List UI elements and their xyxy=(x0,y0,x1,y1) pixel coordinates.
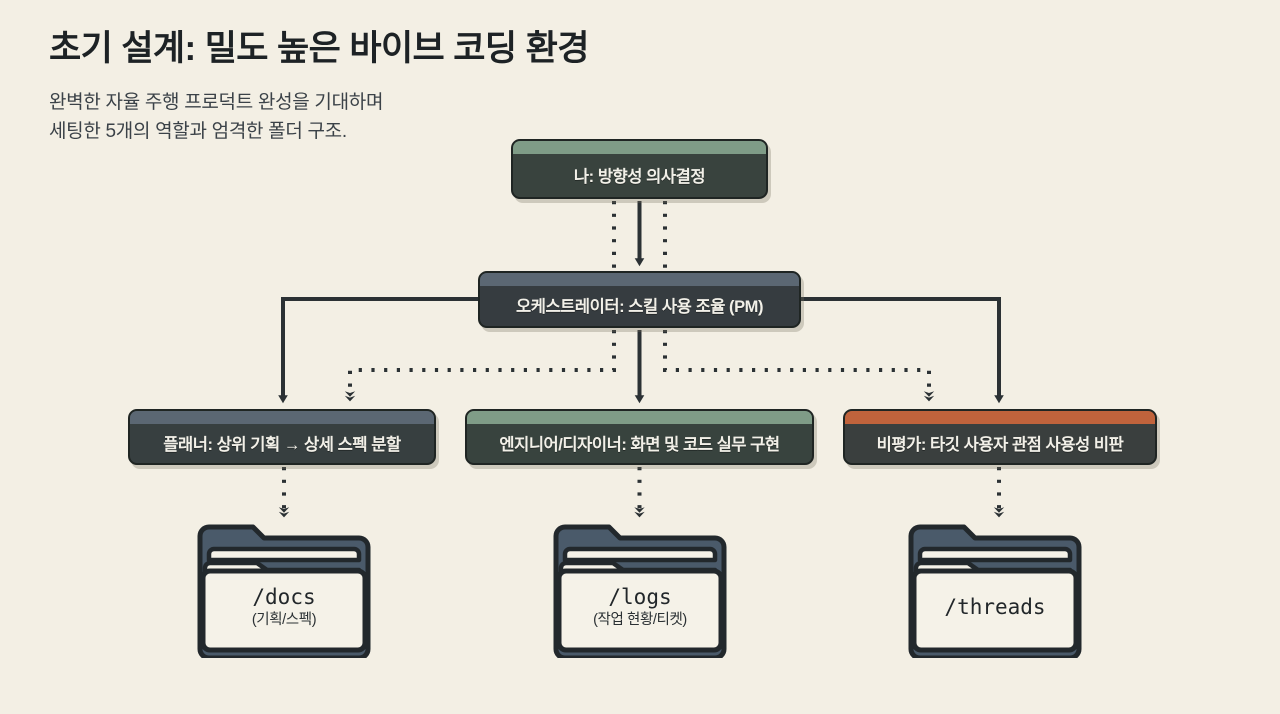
node-accent-bar xyxy=(845,411,1155,424)
node-accent-bar xyxy=(480,273,799,286)
node-planner[interactable]: 플래너: 상위 기획 → 상세 스펙 분할 xyxy=(128,409,436,465)
folder-threads[interactable]: /threads xyxy=(906,520,1084,658)
node-orchestrator[interactable]: 오케스트레이터: 스킬 사용 조율 (PM) xyxy=(478,271,801,328)
page-subtitle: 완벽한 자율 주행 프로덕트 완성을 기대하며 세팅한 5개의 역할과 엄격한 … xyxy=(49,88,749,147)
folder-logs[interactable]: /logs (작업 현황/티켓) xyxy=(551,520,729,658)
node-orchestrator-label: 오케스트레이터: 스킬 사용 조율 (PM) xyxy=(480,286,799,326)
node-engineer[interactable]: 엔지니어/디자이너: 화면 및 코드 실무 구현 xyxy=(465,409,814,465)
folder-docs[interactable]: /docs (기획/스펙) xyxy=(195,520,373,658)
node-me-label: 나: 방향성 의사결정 xyxy=(513,154,766,197)
edge-orchestrator-to-critic xyxy=(801,299,999,399)
page-title: 초기 설계: 밀도 높은 바이브 코딩 환경 xyxy=(49,28,749,71)
node-critic-label: 비평가: 타깃 사용자 관점 사용성 비판 xyxy=(845,424,1155,463)
node-me[interactable]: 나: 방향성 의사결정 xyxy=(511,139,768,199)
node-accent-bar xyxy=(467,411,812,424)
folder-icon xyxy=(195,520,373,658)
edge-dotted-orchestrator-to-critic xyxy=(665,330,929,396)
node-critic[interactable]: 비평가: 타깃 사용자 관점 사용성 비판 xyxy=(843,409,1157,465)
node-accent-bar xyxy=(513,141,766,154)
diagram-canvas: 초기 설계: 밀도 높은 바이브 코딩 환경 완벽한 자율 주행 프로덕트 완성… xyxy=(0,0,1280,714)
node-accent-bar xyxy=(130,411,434,424)
folder-icon xyxy=(551,520,729,658)
folder-icon xyxy=(906,520,1084,658)
node-planner-label: 플래너: 상위 기획 → 상세 스펙 분할 xyxy=(130,424,434,463)
edge-dotted-orchestrator-to-planner xyxy=(350,330,614,396)
edge-orchestrator-to-planner xyxy=(283,299,478,399)
header: 초기 설계: 밀도 높은 바이브 코딩 환경 완벽한 자율 주행 프로덕트 완성… xyxy=(49,28,749,147)
node-engineer-label: 엔지니어/디자이너: 화면 및 코드 실무 구현 xyxy=(467,424,812,463)
